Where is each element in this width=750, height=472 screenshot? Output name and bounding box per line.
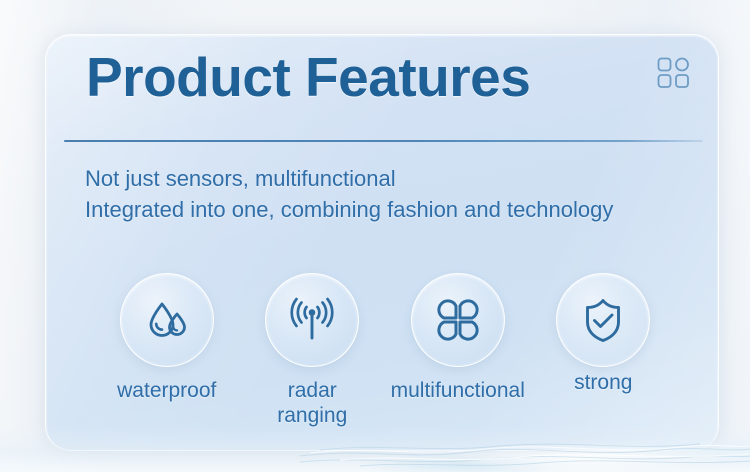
grid-apps-icon[interactable] xyxy=(656,56,690,90)
feature-label: strong xyxy=(574,371,632,396)
feature-label: multifunctional xyxy=(391,379,525,404)
feature-list: waterproof xyxy=(46,273,718,429)
shield-check-icon xyxy=(578,295,628,345)
subtitle-line-2: Integrated into one, combining fashion a… xyxy=(85,194,613,225)
feature-item-waterproof[interactable]: waterproof xyxy=(94,273,240,404)
feature-item-strong[interactable]: strong xyxy=(531,273,677,396)
subtitle: Not just sensors, multifunctional Integr… xyxy=(85,163,613,225)
feature-label: radar ranging xyxy=(277,379,347,429)
feature-label: waterproof xyxy=(117,379,216,404)
feature-icon-circle xyxy=(265,273,359,367)
feature-icon-circle xyxy=(120,273,214,367)
radar-signal-icon xyxy=(287,295,337,345)
feature-item-radar-ranging[interactable]: radar ranging xyxy=(240,273,386,429)
feature-card: Product Features Not just sensors, multi… xyxy=(45,34,719,451)
feature-icon-circle xyxy=(411,273,505,367)
page-title: Product Features xyxy=(86,49,530,107)
feature-icon-circle xyxy=(556,273,650,367)
header-divider xyxy=(64,140,703,142)
four-petal-clover-icon xyxy=(434,296,482,344)
product-features-banner: Product Features Not just sensors, multi… xyxy=(0,0,750,472)
water-drops-icon xyxy=(142,295,192,345)
feature-item-multifunctional[interactable]: multifunctional xyxy=(385,273,531,404)
subtitle-line-1: Not just sensors, multifunctional xyxy=(85,163,613,194)
